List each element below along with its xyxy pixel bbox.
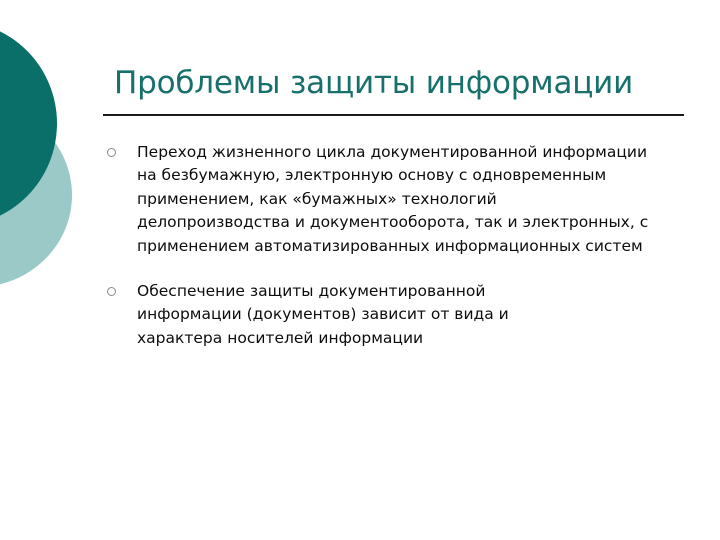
bullet-item-text: Переход жизненного цикла документированн… <box>137 141 649 258</box>
bullet-item-text: Обеспечение защиты документированной инф… <box>137 280 592 350</box>
bullet-circle-icon <box>107 148 116 157</box>
bullet-circle-icon <box>107 287 116 296</box>
slide-body: Переход жизненного цикла документированн… <box>104 141 664 350</box>
bullet-list-item: Обеспечение защиты документированной инф… <box>104 280 664 350</box>
decorative-circle-light <box>0 103 72 287</box>
slide-title: Проблемы защиты информации <box>114 64 694 102</box>
bullet-list-item: Переход жизненного цикла документированн… <box>104 141 664 258</box>
title-divider <box>103 114 684 116</box>
presentation-slide: Проблемы защиты информации Переход жизне… <box>0 0 720 540</box>
decorative-circle-dark <box>0 21 57 226</box>
